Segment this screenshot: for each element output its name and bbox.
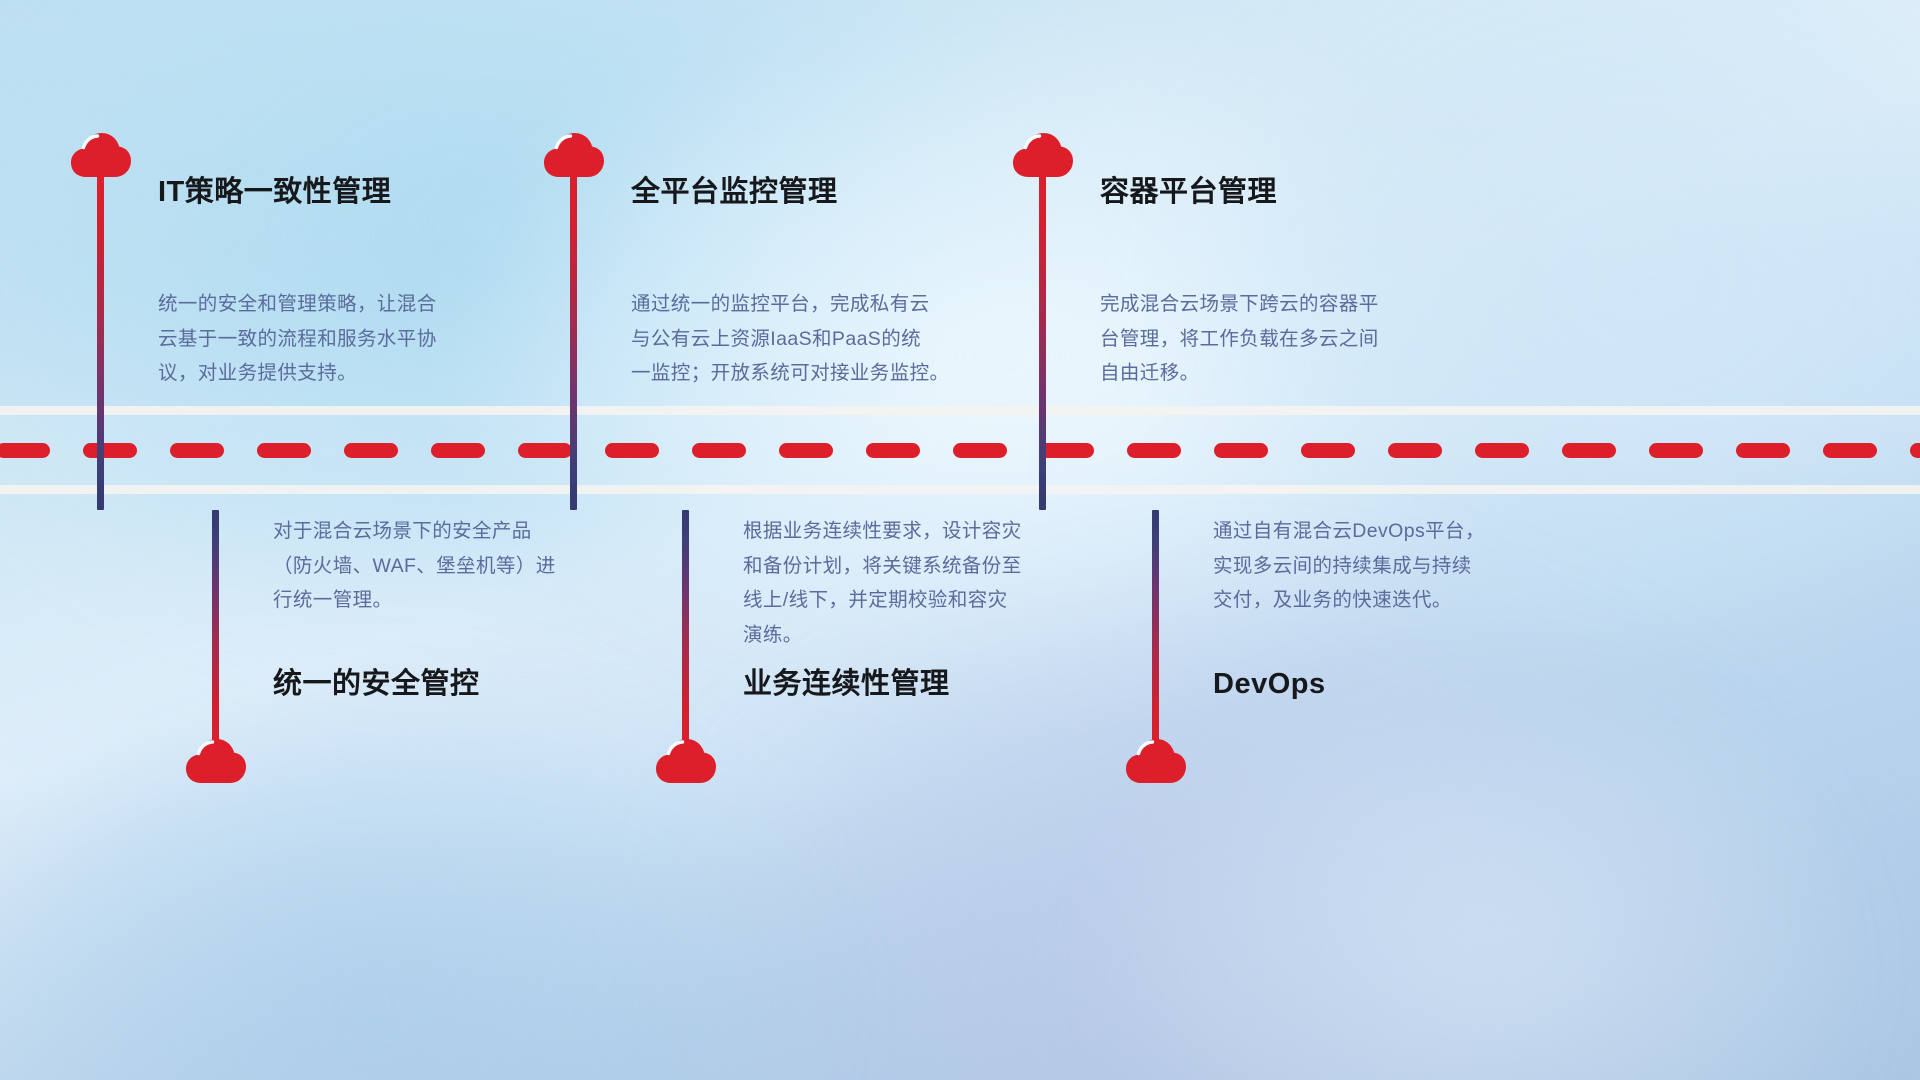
road-dash: [1301, 443, 1355, 458]
connector-stem: [1039, 172, 1046, 510]
road-dash: [692, 443, 746, 458]
road-dash: [1388, 443, 1442, 458]
feature-description: 通过自有混合云DevOps平台， 实现多云间的持续集成与持续 交付，及业务的快速…: [1213, 514, 1485, 618]
road-dash: [1040, 443, 1094, 458]
feature-title: 全平台监控管理: [631, 178, 838, 207]
road-dash: [344, 443, 398, 458]
connector-stem: [682, 510, 689, 746]
cloud-icon: [655, 738, 717, 784]
road-dash: [953, 443, 1007, 458]
road-dash: [1736, 443, 1790, 458]
road-dash: [605, 443, 659, 458]
road-dash: [431, 443, 485, 458]
road-dash: [1910, 443, 1920, 458]
road-dash: [1214, 443, 1268, 458]
feature-description: 对于混合云场景下的安全产品 （防火墙、WAF、堡垒机等）进 行统一管理。: [273, 514, 556, 618]
feature-title: 业务连续性管理: [743, 670, 950, 699]
connector-stem: [212, 510, 219, 746]
road-dash: [257, 443, 311, 458]
feature-description: 根据业务连续性要求，设计容灾 和备份计划，将关键系统备份至 线上/线下，并定期校…: [743, 514, 1022, 653]
hybrid-cloud-management-infographic: IT策略一致性管理 统一的安全和管理策略，让混合 云基于一致的流程和服务水平协 …: [0, 0, 1920, 1080]
feature-description: 完成混合云场景下跨云的容器平 台管理，将工作负载在多云之间 自由迁移。: [1100, 287, 1379, 391]
feature-title: IT策略一致性管理: [158, 178, 391, 207]
road-dash: [1475, 443, 1529, 458]
feature-description: 通过统一的监控平台，完成私有云 与公有云上资源IaaS和PaaS的统 一监控；开…: [631, 287, 949, 391]
connector-stem: [570, 172, 577, 510]
road-dash: [0, 443, 50, 458]
cloud-icon: [1125, 738, 1187, 784]
road-dash: [1649, 443, 1703, 458]
connector-stem: [97, 172, 104, 510]
road-dash: [83, 443, 137, 458]
road-dash: [518, 443, 572, 458]
feature-title: 统一的安全管控: [273, 670, 480, 699]
road-dashed-center-line: [0, 440, 1920, 460]
road-edge-line-bottom: [0, 485, 1920, 494]
road-dash: [170, 443, 224, 458]
feature-description: 统一的安全和管理策略，让混合 云基于一致的流程和服务水平协 议，对业务提供支持。: [158, 287, 437, 391]
road-edge-line-top: [0, 406, 1920, 415]
feature-title: 容器平台管理: [1100, 178, 1277, 207]
road-dash: [779, 443, 833, 458]
road-dash: [1127, 443, 1181, 458]
road-dash: [1823, 443, 1877, 458]
cloud-icon: [185, 738, 247, 784]
connector-stem: [1152, 510, 1159, 746]
road-dash: [1562, 443, 1616, 458]
feature-title: DevOps: [1213, 670, 1326, 699]
road-dash: [866, 443, 920, 458]
